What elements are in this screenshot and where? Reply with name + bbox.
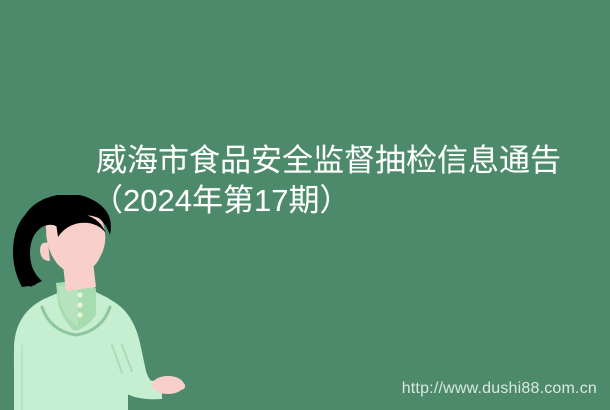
title-line-1: 威海市食品安全监督抽检信息通告 xyxy=(96,141,596,181)
collar-button-1 xyxy=(77,292,82,297)
article-cover-banner: 威海市食品安全监督抽检信息通告 （2024年第17期） http://www.d… xyxy=(0,0,610,410)
watermark-url: http://www.dushi88.com.cn xyxy=(402,380,597,398)
collar-button-2 xyxy=(77,302,82,307)
collar-button-3 xyxy=(77,312,82,317)
person-illustration xyxy=(0,195,230,410)
